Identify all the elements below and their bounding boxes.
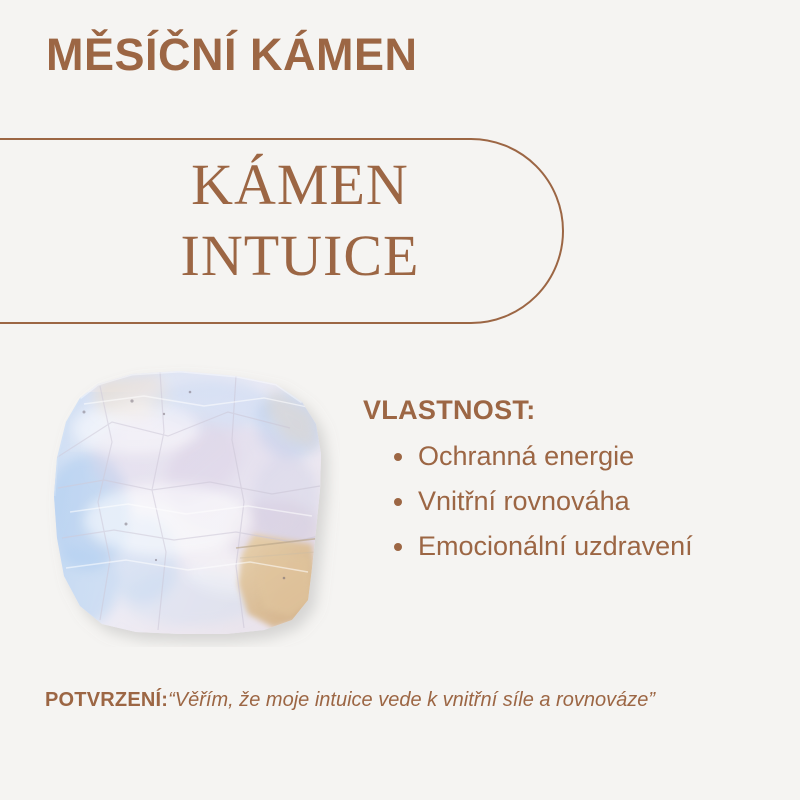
affirmation-label: POTVRZENÍ: <box>45 689 168 711</box>
badge-text: KÁMEN INTUICE <box>60 150 540 292</box>
list-item: Ochranná energie <box>363 434 783 479</box>
bullet-icon <box>394 498 402 506</box>
affirmation-block: POTVRZENÍ:“Věřím, že moje intuice vede k… <box>45 684 765 717</box>
moonstone-image <box>40 362 340 647</box>
crystal-info-card: MĚSÍČNÍ KÁMEN KÁMEN INTUICE <box>0 0 800 800</box>
list-item: Vnitřní rovnováha <box>363 479 783 524</box>
property-label: Emocionální uzdravení <box>418 531 693 561</box>
properties-block: VLASTNOST: Ochranná energie Vnitřní rovn… <box>363 394 783 569</box>
properties-list: Ochranná energie Vnitřní rovnováha Emoci… <box>363 434 783 569</box>
page-title: MĚSÍČNÍ KÁMEN <box>46 31 418 78</box>
bullet-icon <box>394 453 402 461</box>
moonstone-icon <box>40 362 340 647</box>
property-label: Vnitřní rovnováha <box>418 486 630 516</box>
bullet-icon <box>394 543 402 551</box>
properties-heading: VLASTNOST: <box>363 394 783 426</box>
list-item: Emocionální uzdravení <box>363 524 783 569</box>
badge-line-2: INTUICE <box>60 221 540 292</box>
badge-line-1: KÁMEN <box>60 150 540 221</box>
property-label: Ochranná energie <box>418 441 634 471</box>
affirmation-quote: “Věřím, že moje intuice vede k vnitřní s… <box>168 689 655 711</box>
